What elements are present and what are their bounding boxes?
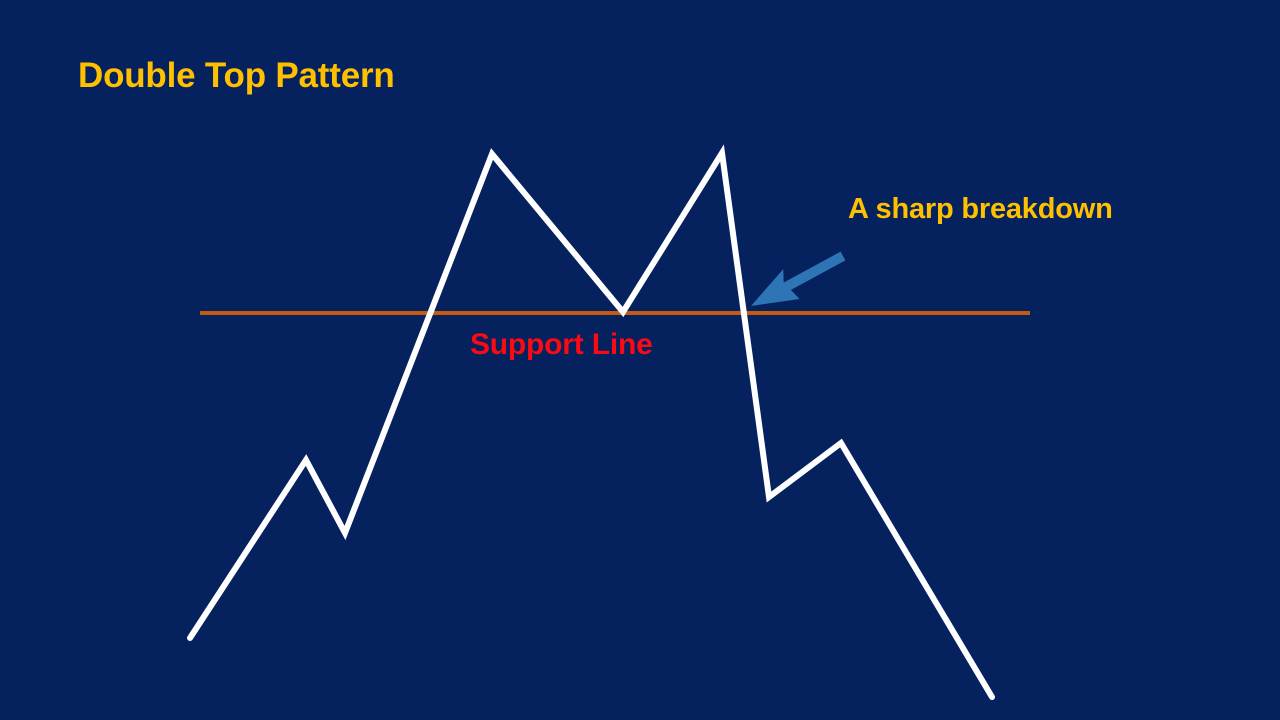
breakdown-annotation-label: A sharp breakdown <box>848 194 1113 224</box>
page-title: Double Top Pattern <box>78 58 395 95</box>
price-line <box>190 153 992 697</box>
slide-canvas: Double Top Pattern A sharp breakdown Sup… <box>0 0 1280 720</box>
support-line-label: Support Line <box>470 329 653 361</box>
breakdown-arrow-icon <box>751 256 843 306</box>
